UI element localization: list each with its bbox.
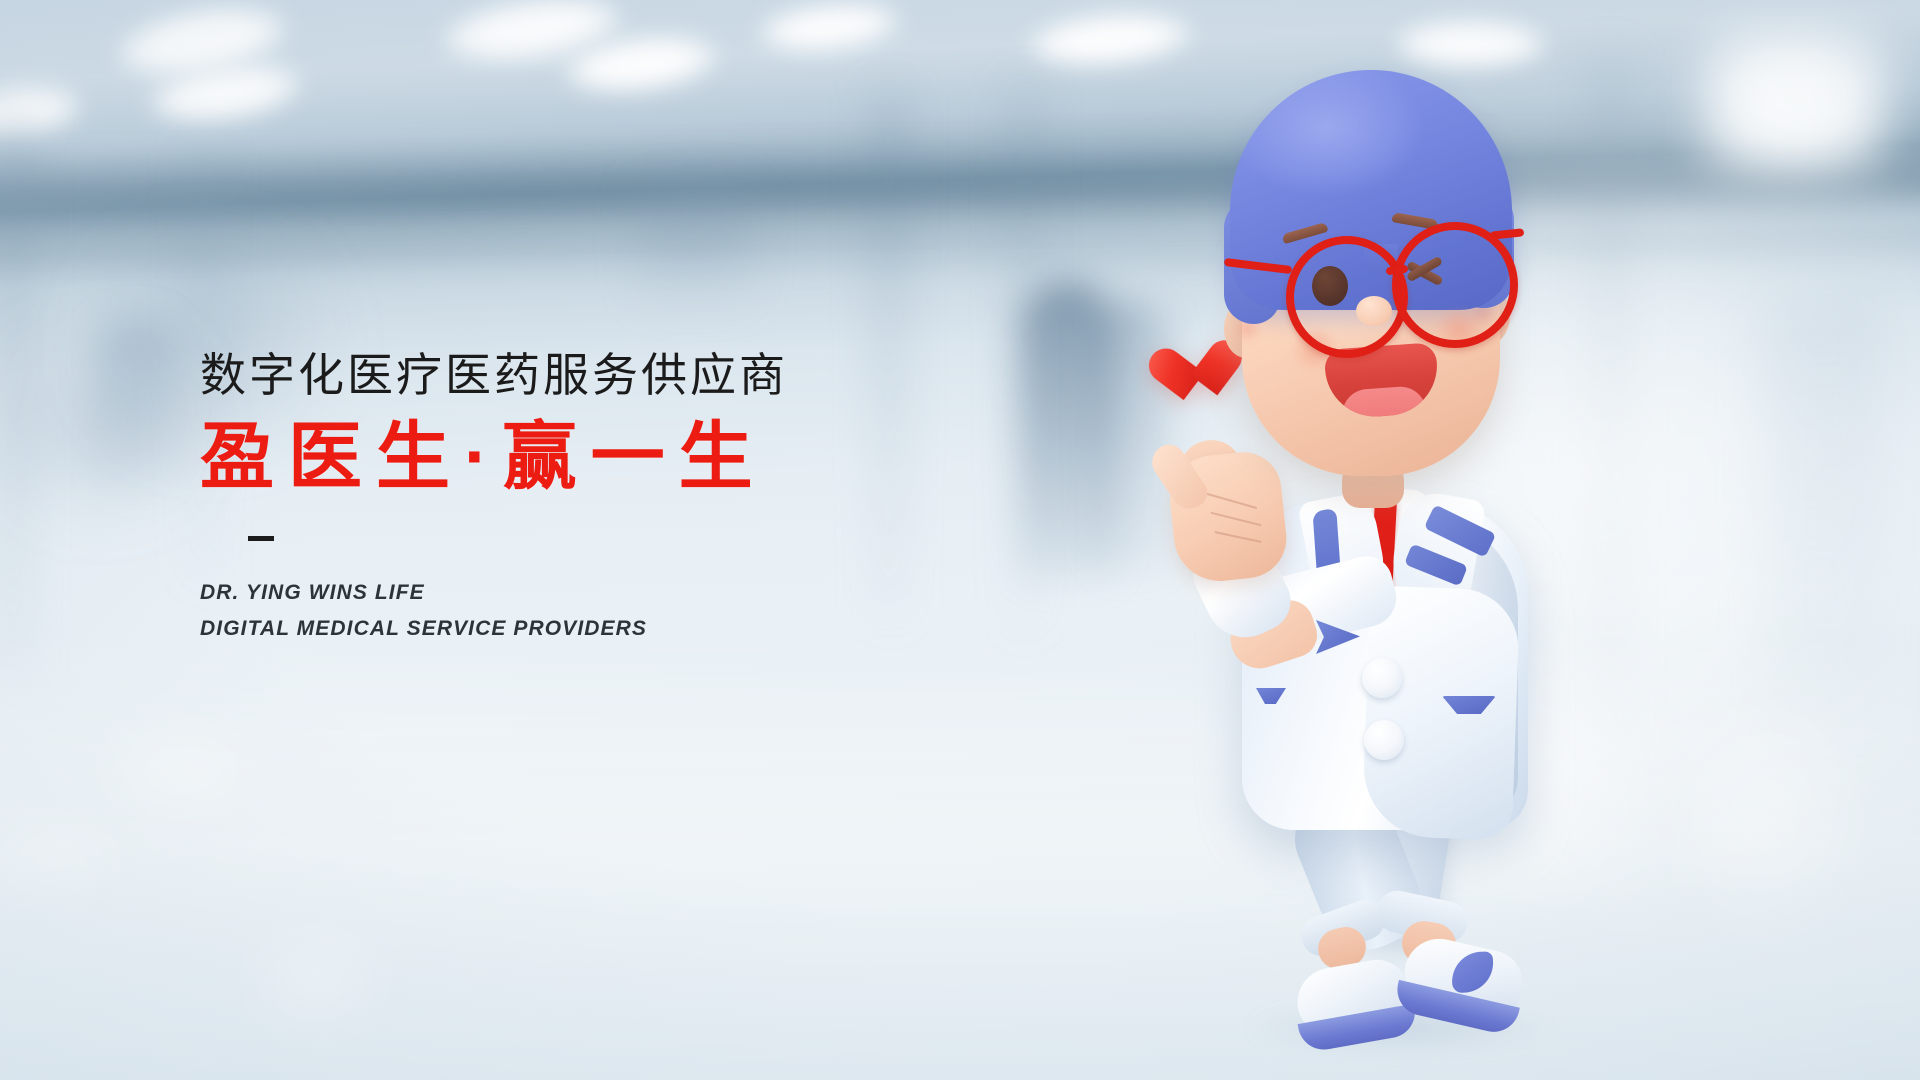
- mascot-coat-button: [1362, 658, 1402, 698]
- hero-tagline-line-1: DR. YING WINS LIFE: [200, 575, 788, 611]
- doctor-mascot: [1190, 48, 1610, 1058]
- hero-banner: 数字化医疗医药服务供应商 盈医生·赢一生 DR. YING WINS LIFE …: [0, 0, 1920, 1080]
- hero-tagline-line-2: DIGITAL MEDICAL SERVICE PROVIDERS: [200, 611, 788, 647]
- mascot-coat-flap: [1362, 585, 1521, 840]
- divider-rule: [248, 536, 274, 541]
- hero-tagline-group: DR. YING WINS LIFE DIGITAL MEDICAL SERVI…: [200, 575, 788, 647]
- page-title: 盈医生·赢一生: [200, 420, 788, 494]
- heart-icon: [1162, 340, 1231, 406]
- glasses-lens-left: [1286, 236, 1408, 358]
- hero-copy-block: 数字化医疗医药服务供应商 盈医生·赢一生 DR. YING WINS LIFE …: [200, 352, 788, 647]
- mascot-coat-button: [1364, 720, 1404, 760]
- glasses-lens-right: [1392, 222, 1518, 348]
- hero-eyebrow: 数字化医疗医药服务供应商: [200, 352, 788, 398]
